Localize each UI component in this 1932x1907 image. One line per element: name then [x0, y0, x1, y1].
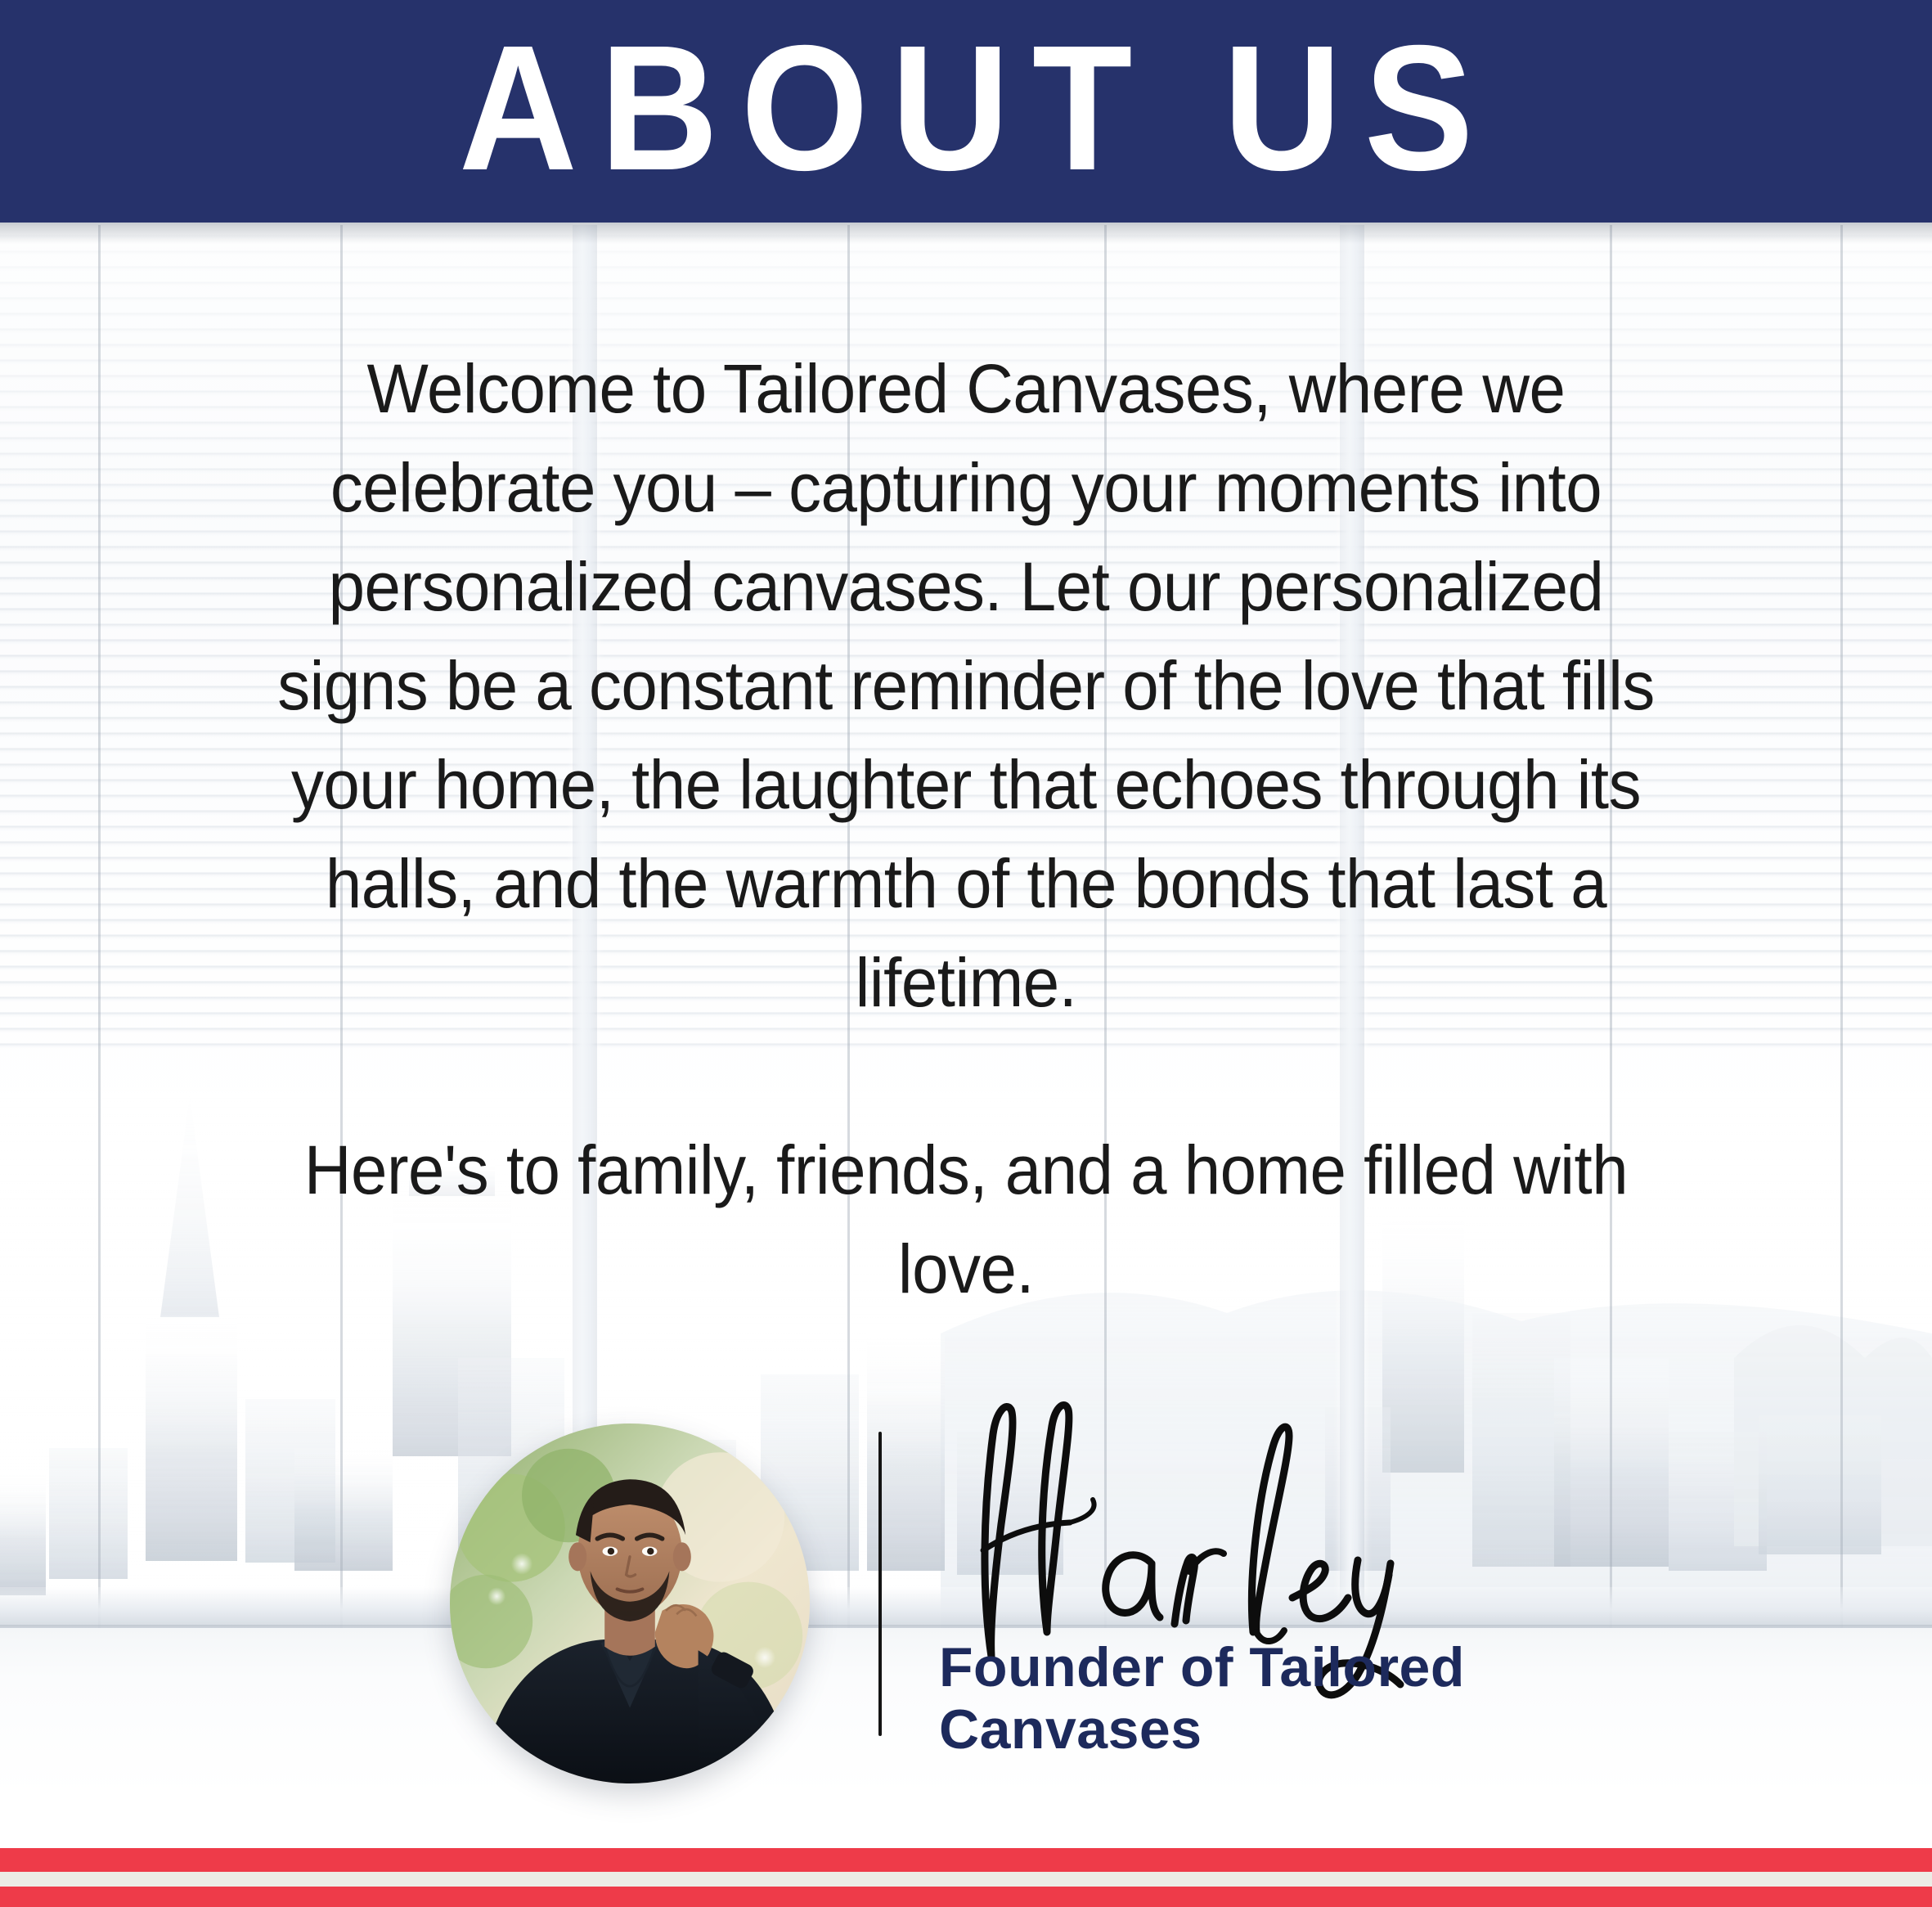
- about-paragraph-2: Here's to family, friends, and a home fi…: [263, 1121, 1669, 1319]
- signature-block: Founder of Tailored Canvases: [0, 1391, 1932, 1816]
- footer-stripe-gap: [0, 1872, 1932, 1887]
- about-text-block: Welcome to Tailored Canvases, where we c…: [226, 340, 1706, 1319]
- signature-divider: [878, 1432, 882, 1736]
- founder-portrait-illustration: [450, 1424, 810, 1783]
- avatar: [450, 1424, 810, 1783]
- about-us-poster: ABOUT US Welcome to Tailored Canvases, w…: [0, 0, 1932, 1907]
- about-paragraph-1: Welcome to Tailored Canvases, where we c…: [263, 340, 1669, 1032]
- header-dropshadow: [0, 223, 1932, 244]
- founder-role-label: Founder of Tailored Canvases: [939, 1636, 1577, 1761]
- footer-stripe-top: [0, 1848, 1932, 1872]
- page-title: ABOUT US: [436, 20, 1496, 198]
- footer-stripe-bottom: [0, 1887, 1932, 1907]
- header-banner: ABOUT US: [0, 0, 1932, 223]
